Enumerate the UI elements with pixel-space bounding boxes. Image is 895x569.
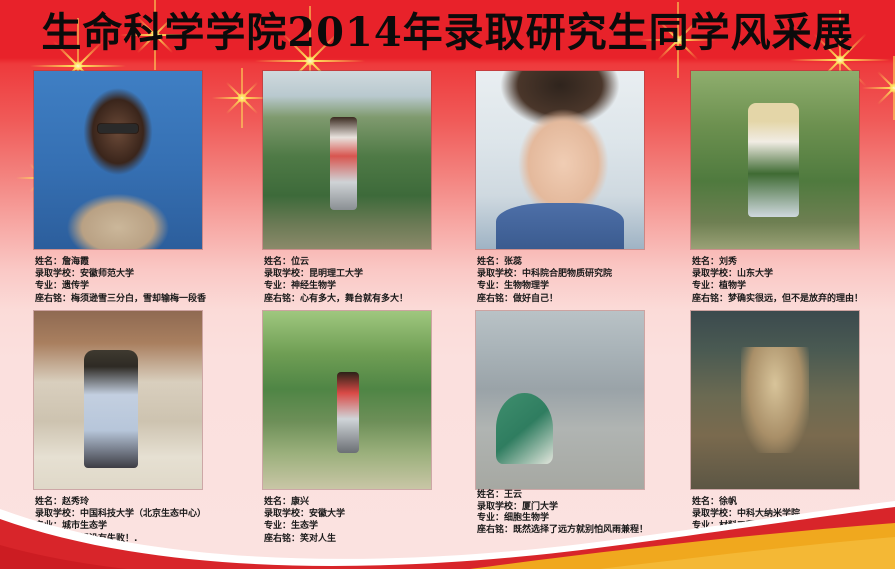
student-caption: 姓名：位云 录取学校：昆明理工大学 专业：神经生物学 座右铭：心有多大，舞台就有… [264,256,469,305]
student-school: 录取学校：厦门大学 [477,502,682,514]
student-photo [475,70,645,250]
student-photo [475,310,645,490]
student-school: 录取学校：安徽大学 [264,508,469,520]
student-name: 姓名：位云 [264,256,469,268]
student-photo [690,310,860,490]
student-motto: 座右铭：梅须逊雪三分白，雪却输梅一段香 [35,293,240,305]
student-photo [690,70,860,250]
starburst-icon [862,56,895,120]
student-motto: 座右铭：做好自己！ [477,293,682,305]
student-motto: 座右铭：心有多大，舞台就有多大！ [264,293,469,305]
poster-canvas: 生命科学学院2014年录取研究生同学风采展 姓名：詹海霞 录取学校：安徽师范大学… [0,0,895,569]
student-photo [262,70,432,250]
student-motto: 座右铭：笑对人生 [264,533,469,545]
student-major: 专业：神经生物学 [264,280,469,292]
student-photo [262,310,432,490]
student-name: 姓名：王云 [477,490,682,502]
student-name: 姓名：张蕊 [477,256,682,268]
student-name: 姓名：詹海霞 [35,256,240,268]
student-major: 专业：植物学 [692,280,895,292]
student-caption: 姓名：詹海霞 录取学校：安徽师范大学 专业：遗传学 座右铭：梅须逊雪三分白，雪却… [35,256,240,305]
student-major: 专业：城市生态学 [35,520,240,532]
student-caption: 姓名：徐帆 录取学校：中科大纳米学院 专业：材料工程 座右铭：既然那么珍惜平凡的… [692,496,892,557]
student-name: 姓名：徐帆 [692,496,892,508]
student-major: 专业：材料工程 [692,520,892,532]
student-school: 录取学校：中国科技大学（北京生态中心） [35,508,240,520]
student-caption: 姓名：康兴 录取学校：安徽大学 专业：生态学 座右铭：笑对人生 [264,496,469,545]
student-school: 录取学校：中科院合肥物质研究院 [477,268,682,280]
student-motto: 座右铭：既然那么珍惜平凡的生活，就得先着努力去保护！ [692,533,892,557]
student-name: 姓名：赵秀玲 [35,496,240,508]
student-name: 姓名：康兴 [264,496,469,508]
student-caption: 姓名：王云 录取学校：厦门大学 专业：细胞生物学 座右铭：既然选择了远方就别怕风… [477,490,682,536]
student-major: 专业：遗传学 [35,280,240,292]
student-name: 姓名：刘秀 [692,256,895,268]
student-school: 录取学校：中科大纳米学院 [692,508,892,520]
student-photo [33,310,203,490]
student-school: 录取学校：昆明理工大学 [264,268,469,280]
student-caption: 姓名：张蕊 录取学校：中科院合肥物质研究院 专业：生物物理学 座右铭：做好自己！ [477,256,682,305]
student-motto: 座右铭：梦确实很远，但不是放弃的理由！ [692,293,895,305]
student-motto: 座右铭：年轻没有失败！. [35,533,240,545]
student-major: 专业：生态学 [264,520,469,532]
student-photo [33,70,203,250]
student-motto: 座右铭：既然选择了远方就别怕风雨兼程！ [477,525,682,537]
student-major: 专业：细胞生物学 [477,513,682,525]
student-school: 录取学校：山东大学 [692,268,895,280]
student-caption: 姓名：赵秀玲 录取学校：中国科技大学（北京生态中心） 专业：城市生态学 座右铭：… [35,496,240,545]
student-caption: 姓名：刘秀 录取学校：山东大学 专业：植物学 座右铭：梦确实很远，但不是放弃的理… [692,256,895,305]
student-school: 录取学校：安徽师范大学 [35,268,240,280]
page-title: 生命科学学院2014年录取研究生同学风采展 [0,8,895,58]
student-major: 专业：生物物理学 [477,280,682,292]
